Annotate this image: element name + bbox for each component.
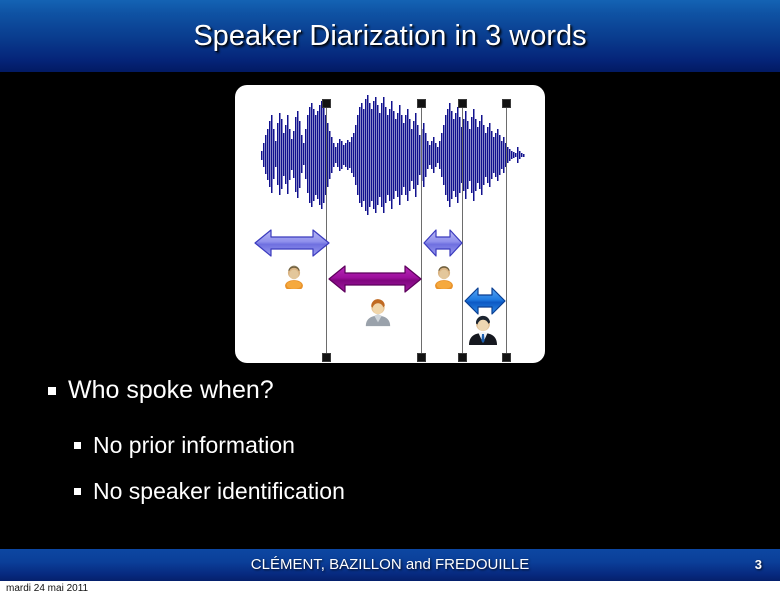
segment-boundary-line-4 <box>506 103 507 361</box>
notes-date: mardi 24 mai 2011 <box>6 583 88 594</box>
speaker-avatar-gray <box>363 297 393 327</box>
footer-authors: CLÉMENT, BAZILLON and FREDOUILLE <box>0 549 780 581</box>
speaker-1-turn-arrow-left <box>253 227 331 259</box>
notes-strip <box>0 581 780 600</box>
speaker-2-turn-arrow-center <box>327 263 423 295</box>
segment-handle-bottom-4[interactable] <box>502 353 511 362</box>
segment-handle-top-3[interactable] <box>458 99 467 108</box>
speaker-avatar-orange-2 <box>431 263 457 289</box>
slide-page-number: 3 <box>755 549 762 581</box>
segment-handle-bottom-3[interactable] <box>458 353 467 362</box>
list-item: No prior information <box>0 431 780 459</box>
segment-handle-bottom-2[interactable] <box>417 353 426 362</box>
segment-handle-top-4[interactable] <box>502 99 511 108</box>
bullet-text: Who spoke when? <box>68 375 274 405</box>
bullet-square-icon <box>74 488 81 495</box>
list-item: No speaker identification <box>0 477 780 505</box>
figure-canvas <box>235 85 545 363</box>
bullet-square-icon <box>74 442 81 449</box>
speaker-avatar-dark-suit <box>467 313 499 345</box>
list-item: Who spoke when? <box>0 375 780 405</box>
bullet-text: No speaker identification <box>93 477 345 505</box>
slide-header-bar: Speaker Diarization in 3 words <box>0 0 780 72</box>
bullet-text: No prior information <box>93 431 295 459</box>
speaker-diarization-figure <box>235 85 545 363</box>
segment-handle-top-1[interactable] <box>322 99 331 108</box>
segment-handle-top-2[interactable] <box>417 99 426 108</box>
page-title: Speaker Diarization in 3 words <box>0 0 780 72</box>
speaker-avatar-orange-1 <box>281 263 307 289</box>
speaker-1-turn-arrow-right <box>422 227 464 259</box>
bullet-list: Who spoke when? No prior information No … <box>0 375 780 523</box>
presentation-slide: Speaker Diarization in 3 words <box>0 0 780 600</box>
segment-handle-bottom-1[interactable] <box>322 353 331 362</box>
bullet-square-icon <box>48 387 56 395</box>
